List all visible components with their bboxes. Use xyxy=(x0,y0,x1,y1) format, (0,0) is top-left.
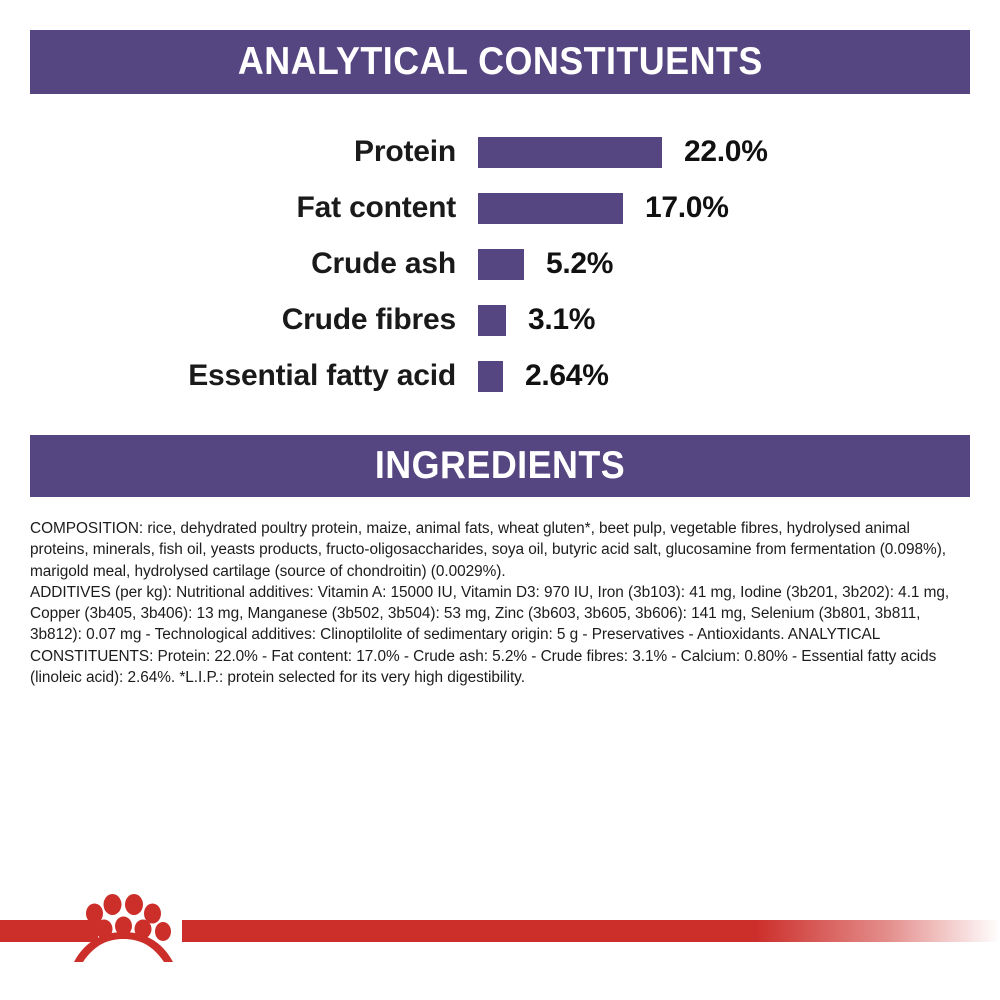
constituent-bar xyxy=(478,137,662,168)
constituent-label: Essential fatty acid xyxy=(0,359,478,393)
royal-canin-crown-logo xyxy=(68,890,180,968)
constituent-value: 22.0% xyxy=(662,135,768,169)
constituent-row: Fat content 17.0% xyxy=(0,180,1000,236)
constituent-row: Crude ash 5.2% xyxy=(0,236,1000,292)
constituent-bar xyxy=(478,249,524,280)
analytical-constituents-chart: Protein 22.0% Fat content 17.0% Crude as… xyxy=(0,124,1000,404)
constituent-value: 3.1% xyxy=(506,303,595,337)
constituent-value: 2.64% xyxy=(503,359,609,393)
constituent-row: Essential fatty acid 2.64% xyxy=(0,348,1000,404)
constituent-value: 5.2% xyxy=(524,247,613,281)
constituent-label: Fat content xyxy=(0,191,478,225)
constituent-label: Protein xyxy=(0,135,478,169)
section-header-analytical-constituents-label: ANALYTICAL CONSTITUENTS xyxy=(238,40,763,84)
ingredients-composition-text: COMPOSITION: rice, dehydrated poultry pr… xyxy=(30,518,960,688)
constituent-label: Crude ash xyxy=(0,247,478,281)
section-header-analytical-constituents: ANALYTICAL CONSTITUENTS xyxy=(30,30,970,94)
constituent-bar xyxy=(478,361,503,392)
constituent-label: Crude fibres xyxy=(0,303,478,337)
constituent-bar xyxy=(478,305,506,336)
constituent-value: 17.0% xyxy=(623,191,729,225)
composition-paragraph: COMPOSITION: rice, dehydrated poultry pr… xyxy=(30,518,960,582)
additives-paragraph: ADDITIVES (per kg): Nutritional additive… xyxy=(30,582,960,688)
brand-footer xyxy=(0,890,1000,1000)
constituent-row: Protein 22.0% xyxy=(0,124,1000,180)
brand-rule-right xyxy=(182,920,1000,942)
section-header-ingredients: INGREDIENTS xyxy=(30,435,970,497)
constituent-row: Crude fibres 3.1% xyxy=(0,292,1000,348)
section-header-ingredients-label: INGREDIENTS xyxy=(375,444,625,488)
product-nutrition-panel: ANALYTICAL CONSTITUENTS Protein 22.0% Fa… xyxy=(0,0,1000,1000)
constituent-bar xyxy=(478,193,623,224)
